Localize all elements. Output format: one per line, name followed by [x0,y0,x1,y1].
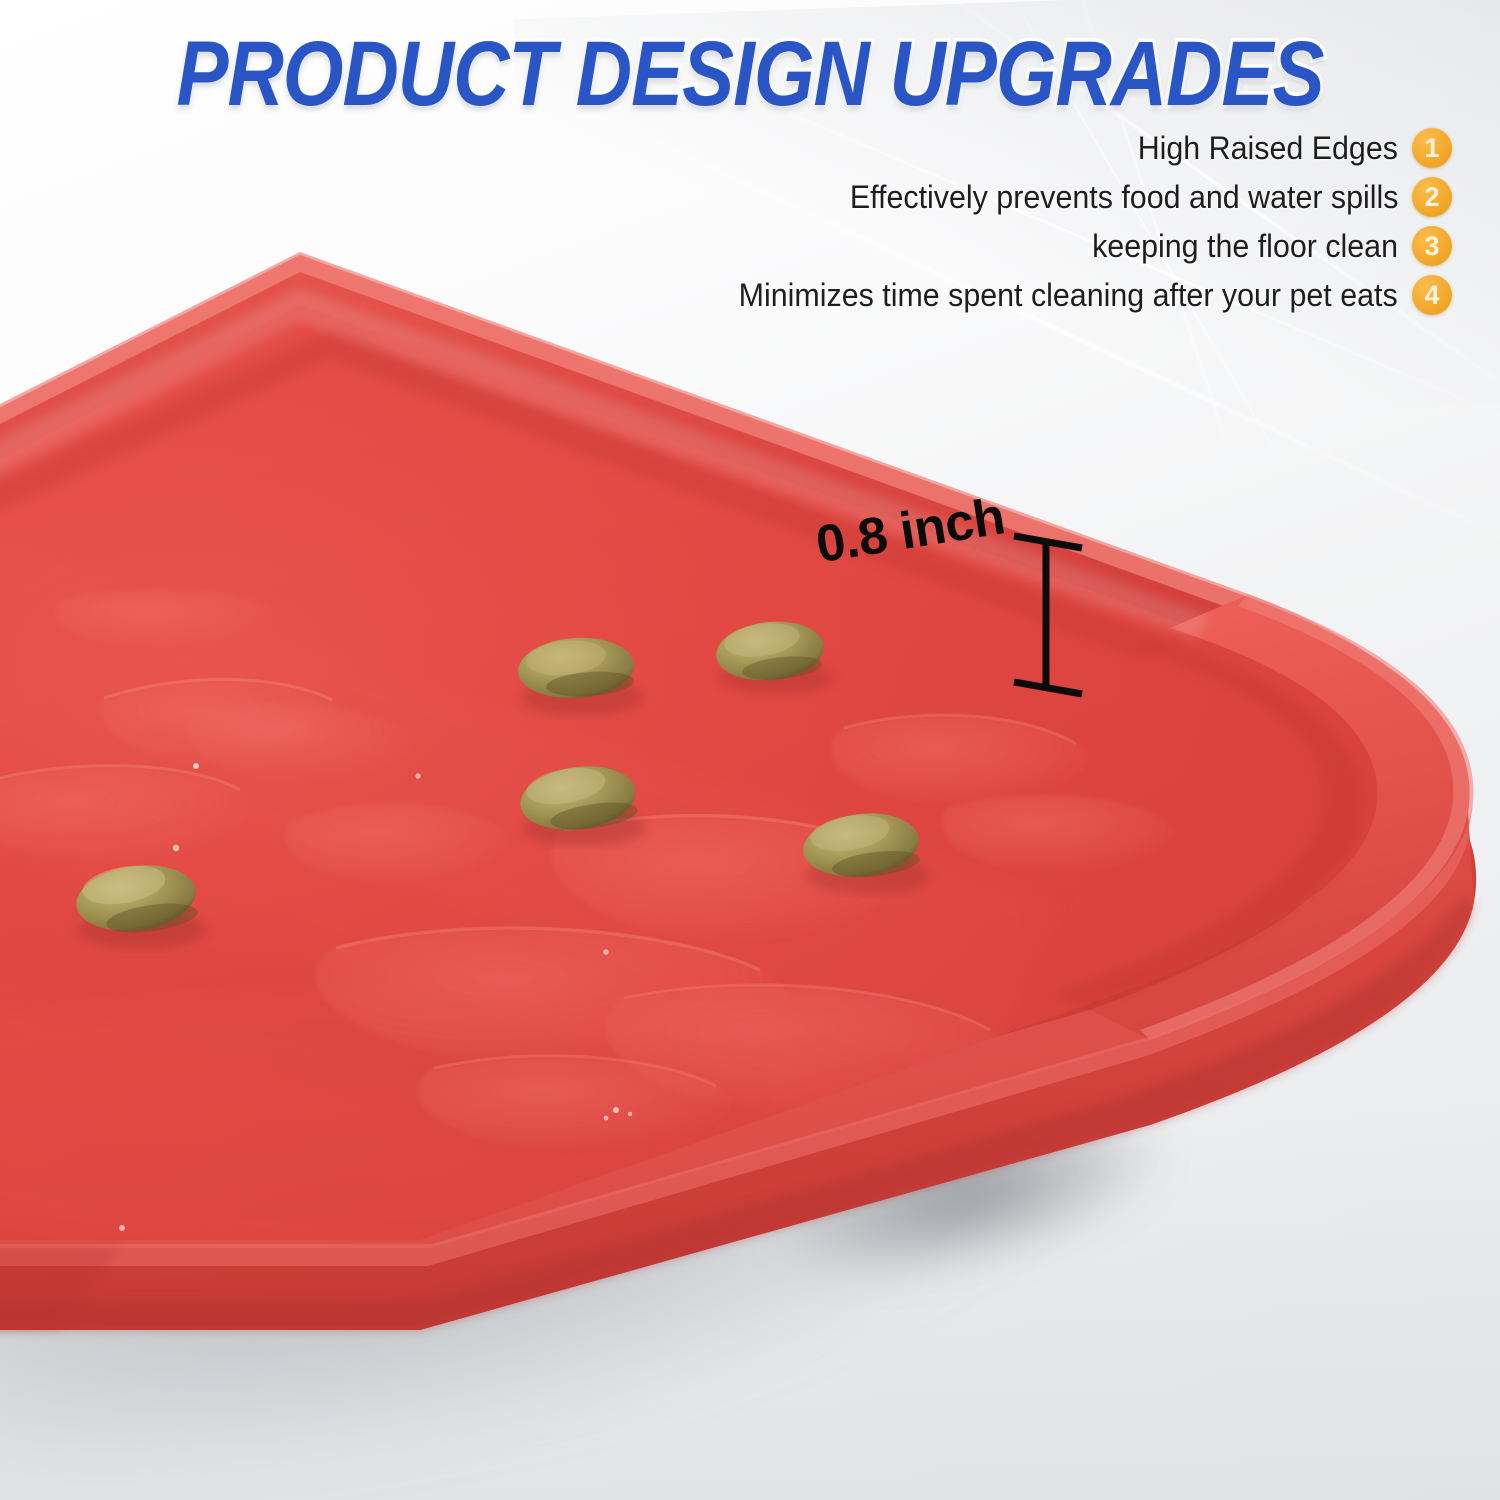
page-title: PRODUCT DESIGN UPGRADES [0,20,1500,127]
feature-list: High Raised Edges 1 Effectively prevents… [704,128,1452,315]
product-infographic: PRODUCT DESIGN UPGRADES High Raised Edge… [0,0,1500,1500]
feature-number-badge: 3 [1412,226,1452,266]
feature-number-badge: 1 [1412,128,1452,168]
feature-label: keeping the floor clean [1092,228,1398,265]
feature-item-3: keeping the floor clean 3 [1076,226,1452,266]
feature-label: Effectively prevents food and water spil… [849,179,1398,216]
feature-item-1: High Raised Edges 1 [1124,128,1452,168]
feature-number-badge: 4 [1412,275,1452,315]
feature-label: Minimizes time spent cleaning after your… [739,277,1398,314]
feature-item-4: Minimizes time spent cleaning after your… [704,275,1452,315]
feature-label: High Raised Edges [1138,130,1398,167]
dimension-ibeam-icon [1000,520,1120,720]
feature-item-2: Effectively prevents food and water spil… [821,177,1452,217]
feature-number-badge: 2 [1412,177,1452,217]
